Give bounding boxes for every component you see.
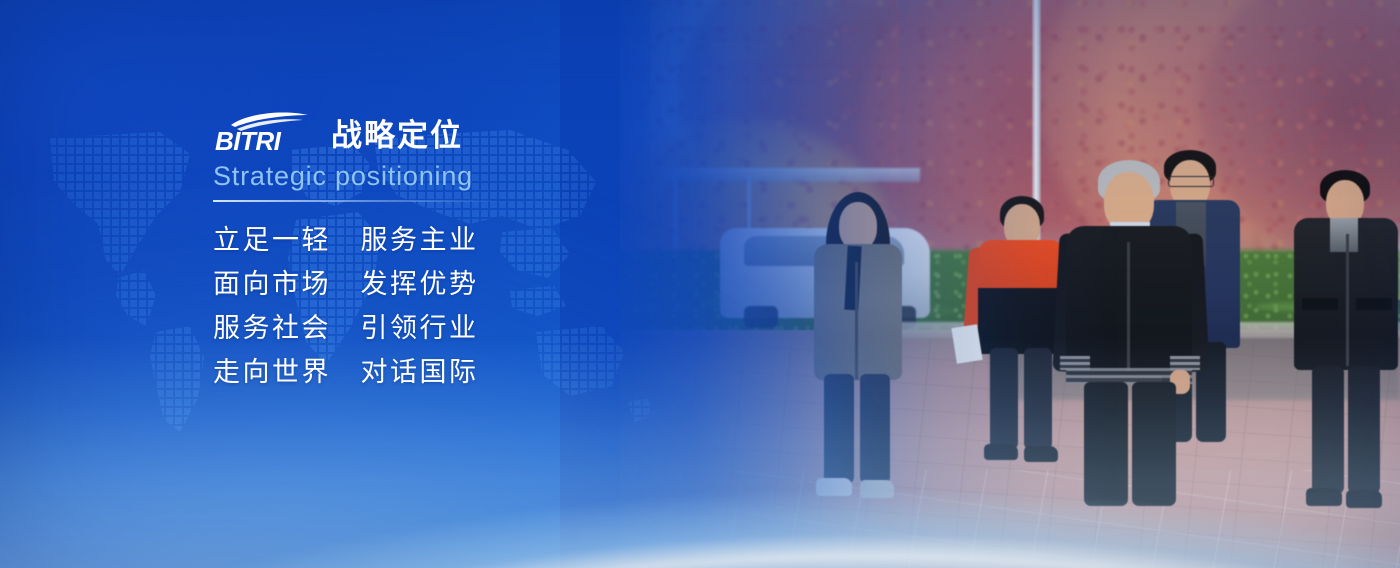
cuff-right: [1170, 356, 1200, 370]
leg-right: [1348, 366, 1380, 494]
svg-text:BITRI: BITRI: [215, 126, 282, 154]
jacket-zipper: [1127, 242, 1130, 372]
shoe-left: [816, 478, 852, 496]
held-papers: [951, 324, 982, 364]
slogan-list: 立足一轻 服务主业 面向市场 发挥优势 服务社会 引领行业 走向世界 对话国际: [213, 218, 643, 394]
slogan-line: 服务社会 引领行业: [213, 306, 643, 350]
leg-left: [1312, 366, 1344, 494]
title-row: BITRI 战略定位: [213, 108, 643, 154]
slogan-line: 走向世界 对话国际: [213, 350, 643, 394]
shoe-left: [1306, 488, 1342, 506]
shoe-right: [1346, 490, 1382, 508]
car-wheel: [744, 306, 778, 328]
title-chinese: 战略定位: [331, 119, 463, 153]
leg-left: [990, 348, 1018, 450]
person-leader-black-jacket: [1052, 160, 1212, 510]
person-man-right-black-jacket: [1288, 170, 1400, 520]
headline-block: BITRI 战略定位 Strategic positioning 立足一轻 服务…: [213, 108, 643, 394]
head: [839, 202, 877, 250]
jacket-pocket-left: [1302, 298, 1338, 310]
subtitle-english: Strategic positioning: [213, 160, 643, 192]
jacket-pocket-right: [1356, 298, 1392, 310]
canopy-awning: [660, 168, 920, 182]
leg-left: [824, 374, 854, 484]
leg-right: [860, 374, 890, 484]
slogan-line: 面向市场 发挥优势: [213, 262, 643, 306]
jacket-zipper: [1346, 234, 1349, 366]
slogan-line: 立足一轻 服务主业: [213, 218, 643, 262]
leg-right: [1024, 348, 1052, 450]
title-divider: [213, 200, 503, 202]
person-woman-olive-jacket: [798, 192, 918, 512]
bitri-logo[interactable]: BITRI: [213, 110, 317, 154]
shoe-left: [984, 444, 1018, 460]
shirt-collar: [1330, 218, 1358, 252]
cuff-left: [1060, 356, 1090, 370]
leg-right: [1132, 382, 1176, 506]
group-walking-photo: [560, 0, 1400, 568]
strategic-positioning-banner: BITRI 战略定位 Strategic positioning 立足一轻 服务…: [0, 0, 1400, 568]
leg-left: [1084, 382, 1128, 506]
jacket-zipper: [855, 262, 858, 380]
shoe-right: [860, 480, 894, 498]
